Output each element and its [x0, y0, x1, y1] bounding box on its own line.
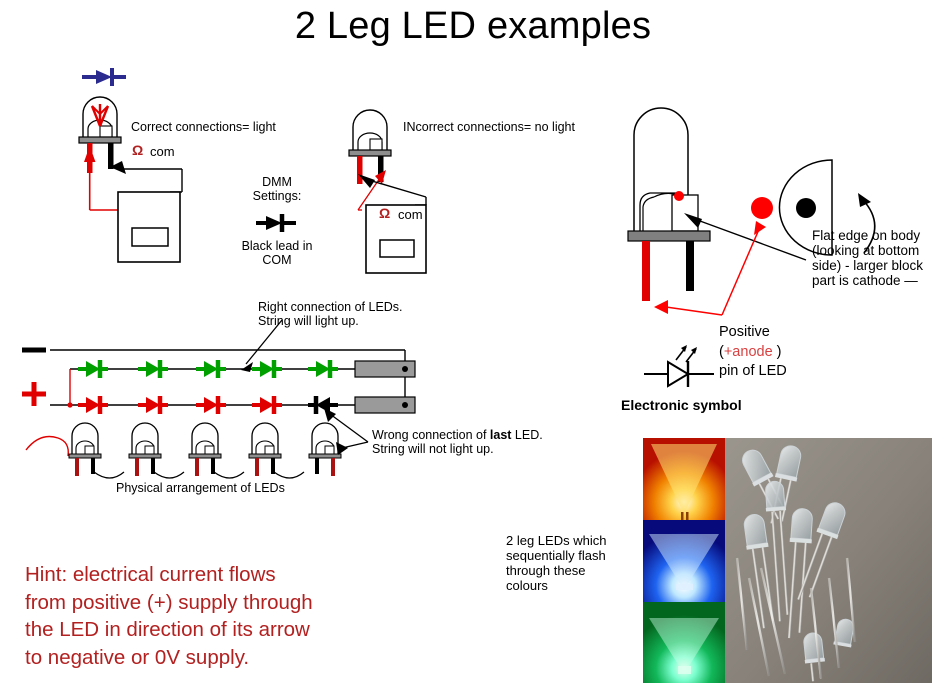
right-connection-line2: String will light up.	[258, 314, 403, 328]
led-photo-svg	[643, 438, 932, 683]
hint-line1: Hint: electrical current flows	[25, 561, 313, 589]
black-lead-pointer	[110, 161, 182, 192]
meter-com-label-2: com	[398, 207, 423, 222]
led-schematic-symbol-icon	[640, 340, 720, 392]
led-string-group	[10, 300, 440, 490]
colour-swatch-strip	[643, 438, 725, 683]
electronic-symbol-caption: Electronic symbol	[621, 397, 742, 414]
wrong-suffix: LED.	[511, 428, 542, 442]
led-photo	[643, 438, 932, 683]
reversed-diode-icon	[308, 396, 338, 414]
right-connection-line1: Right connection of LEDs.	[258, 300, 403, 314]
flat-edge-line1: Flat edge on body	[812, 228, 923, 243]
anode-pin-dot	[751, 197, 773, 219]
meter-com-label: com	[150, 144, 175, 159]
positive-line1: Positive	[719, 323, 787, 343]
positive-line3: pin of LED	[719, 362, 787, 382]
led-string-svg	[10, 300, 440, 490]
wrong-prefix: Wrong connection of	[372, 428, 490, 442]
paren-close: )	[773, 344, 782, 360]
photo-caption-line1: 2 leg LEDs which	[506, 533, 606, 548]
black-lead-wrong-pointer	[358, 174, 426, 205]
physical-arrangement-caption: Physical arrangement of LEDs	[116, 481, 285, 496]
correct-connection-label: Correct connections= light	[131, 120, 276, 135]
diode-test-symbol-icon	[82, 68, 126, 86]
hint-line2: from positive (+) supply through	[25, 589, 313, 617]
electronic-symbol-group	[640, 340, 720, 392]
physical-led-row	[26, 423, 341, 478]
photo-caption: 2 leg LEDs which sequentially flash thro…	[506, 533, 606, 593]
hint-line4: to negative or 0V supply.	[25, 644, 313, 672]
flat-edge-line4: part is cathode —	[812, 273, 923, 288]
dmm-settings-note-line2: COM	[222, 253, 332, 267]
dmm-settings-note-line1: Black lead in	[222, 239, 332, 253]
page-title: 2 Leg LED examples	[0, 4, 946, 49]
reversed-physical-led	[309, 423, 341, 476]
diode-mode-symbol-icon	[222, 209, 332, 237]
photo-caption-line4: colours	[506, 578, 606, 593]
right-connection-note: Right connection of LEDs. String will li…	[258, 300, 403, 328]
hint-line3: the LED in direction of its arrow	[25, 616, 313, 644]
anode-word: +anode	[724, 344, 773, 360]
wrong-bold-word: last	[490, 428, 512, 442]
dmm-settings-title-line1: DMM	[222, 175, 332, 189]
flat-edge-note: Flat edge on body (looking at bottom sid…	[812, 228, 923, 288]
cathode-pin-dot	[796, 198, 816, 218]
dmm-settings-group: DMM Settings: Black lead in COM	[222, 175, 332, 267]
hint-block: Hint: electrical current flows from posi…	[25, 561, 313, 672]
photo-caption-line2: sequentially flash	[506, 548, 606, 563]
flat-edge-line2: (looking at bottom	[812, 243, 923, 258]
wrong-connection-note: Wrong connection of last LED. String wil…	[372, 428, 543, 456]
wrong-connection-line2: String will not light up.	[372, 442, 543, 456]
positive-anode-note: Positive (+anode ) pin of LED	[719, 323, 787, 382]
incorrect-connection-label: INcorrect connections= no light	[403, 120, 575, 135]
meter-ohm-label-2: Ω	[379, 205, 390, 222]
positive-line2: (+anode )	[719, 343, 787, 363]
dmm-settings-title-line2: Settings:	[222, 189, 332, 203]
led-tray-photo	[725, 438, 932, 683]
flat-edge-line3: side) - larger block	[812, 258, 923, 273]
photo-caption-line3: through these	[506, 563, 606, 578]
wrong-connection-line1: Wrong connection of last LED.	[372, 428, 543, 442]
meter-ohm-label: Ω	[132, 142, 143, 159]
multimeter-body	[118, 192, 180, 262]
